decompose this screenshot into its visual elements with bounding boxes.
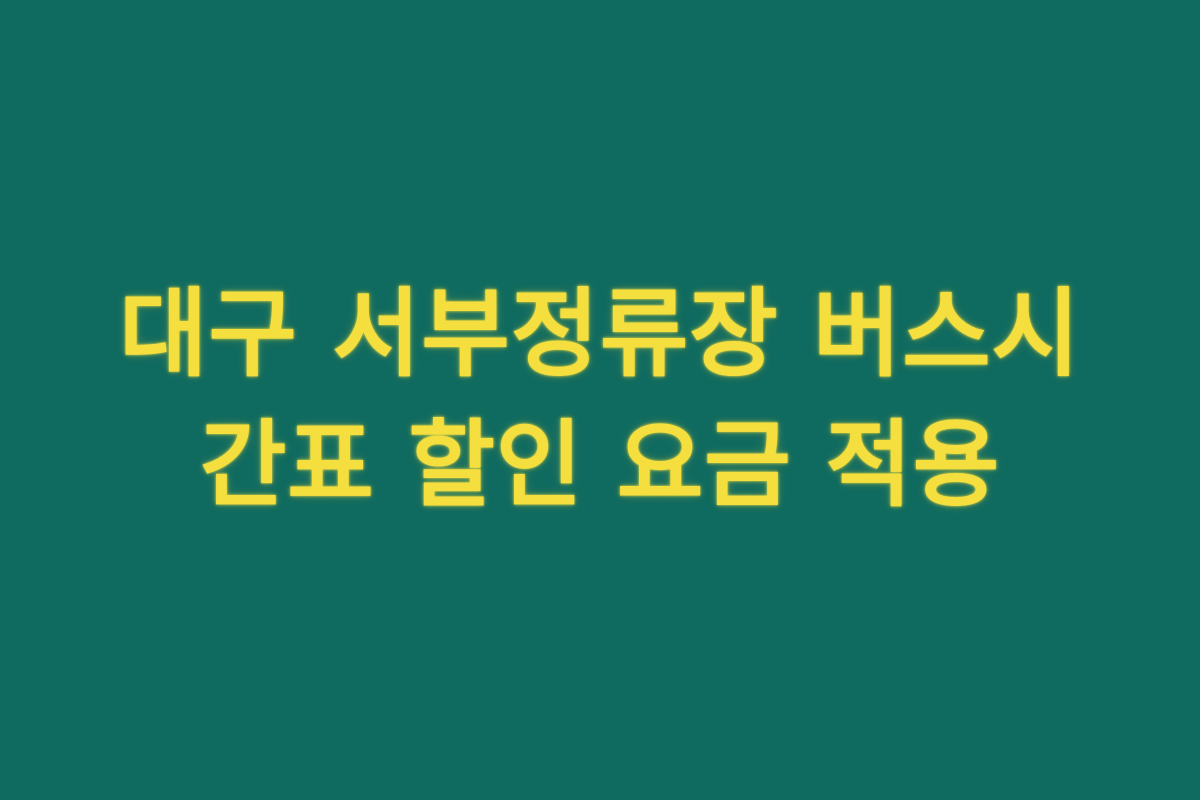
headline-line-2: 간표 할인 요금 적용	[40, 400, 1160, 532]
headline-text-block: 대구 서부정류장 버스시 간표 할인 요금 적용	[0, 268, 1200, 532]
banner-canvas: 대구 서부정류장 버스시 간표 할인 요금 적용	[0, 0, 1200, 800]
headline-line-1: 대구 서부정류장 버스시	[40, 268, 1160, 400]
